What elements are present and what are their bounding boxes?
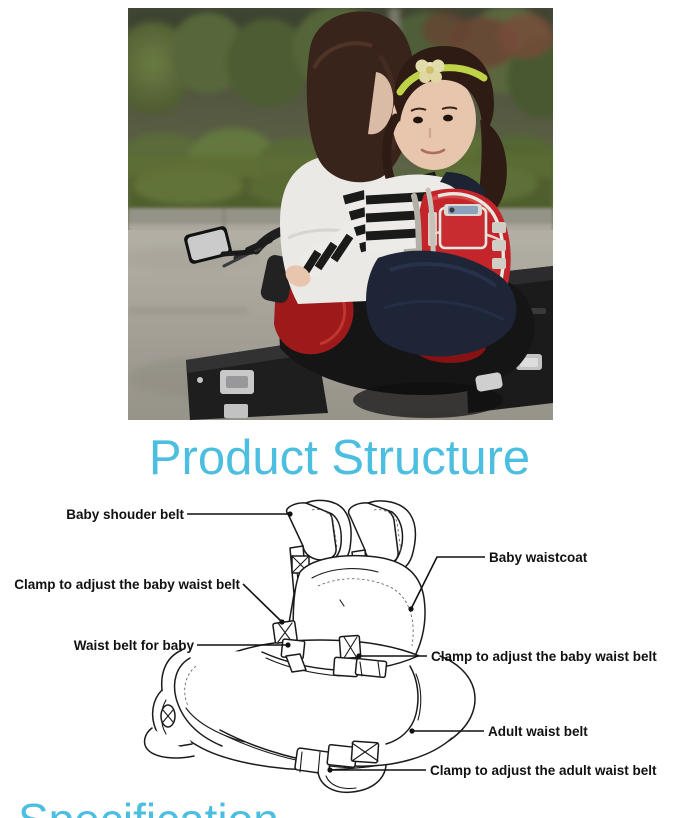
label-adult-waist-belt: Adult waist belt [488,724,588,739]
next-section-title-text: Specification [18,796,279,818]
label-clamp-baby-waist-left: Clamp to adjust the baby waist belt [14,577,240,592]
harness-line-drawing: Baby shouder belt Clamp to adjust the ba… [0,494,679,794]
label-clamp-adult-waist: Clamp to adjust the adult waist belt [430,763,657,778]
harness-drawing [145,500,475,792]
product-structure-diagram: Baby shouder belt Clamp to adjust the ba… [0,494,679,794]
product-photo [128,8,553,420]
product-photo-illustration [128,8,553,420]
next-section-title-clipped: Specification [0,796,679,818]
label-baby-waistcoat: Baby waistcoat [489,550,588,565]
label-clamp-baby-waist-right: Clamp to adjust the baby waist belt [431,649,657,664]
label-baby-shoulder-belt: Baby shouder belt [66,507,184,522]
page-title: Product Structure [0,432,679,484]
label-waist-belt-for-baby: Waist belt for baby [74,638,195,653]
